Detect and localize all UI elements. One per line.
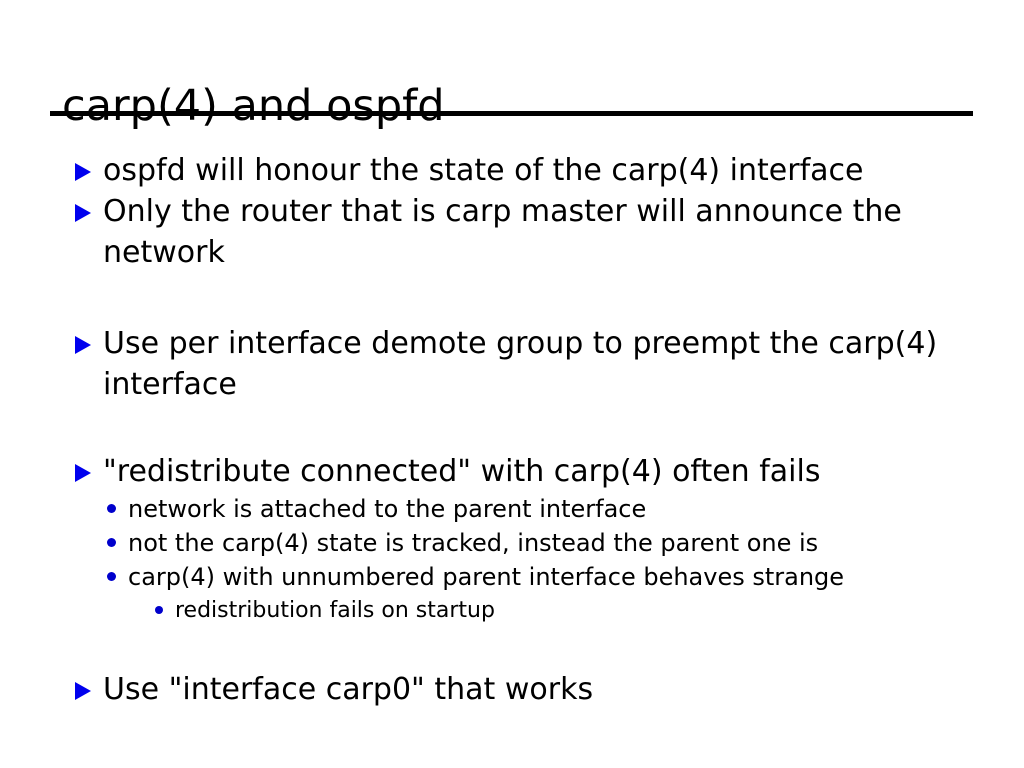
list-item: redistribution fails on startup xyxy=(0,594,1024,627)
triangle-right-bullet-icon xyxy=(75,682,91,700)
slide: carp(4) and ospfd ospfd will honour the … xyxy=(0,0,1024,768)
bullet-group-one: ospfd will honour the state of the carp(… xyxy=(0,150,1024,273)
disc-bullet-icon xyxy=(155,606,163,614)
list-item: carp(4) with unnumbered parent interface… xyxy=(0,560,1024,594)
list-item-label: not the carp(4) state is tracked, instea… xyxy=(128,529,818,557)
spacer xyxy=(0,273,1024,323)
list-item-label: carp(4) with unnumbered parent interface… xyxy=(128,563,844,591)
triangle-right-bullet-icon xyxy=(75,336,91,354)
list-item: Use "interface carp0" that works xyxy=(0,669,1024,710)
list-item-label: Use "interface carp0" that works xyxy=(103,672,593,707)
list-item-label: network is attached to the parent interf… xyxy=(128,495,646,523)
list-item-label: Use per interface demote group to preemp… xyxy=(103,326,937,402)
list-item-label: redistribution fails on startup xyxy=(175,598,495,623)
list-item-label: Only the router that is carp master will… xyxy=(103,194,902,270)
list-item: ospfd will honour the state of the carp(… xyxy=(0,150,1024,191)
bullet-group-two: Use per interface demote group to preemp… xyxy=(0,323,1024,405)
bullet-group-four: Use "interface carp0" that works xyxy=(0,669,1024,710)
list-item-label: "redistribute connected" with carp(4) of… xyxy=(103,454,820,489)
disc-bullet-icon xyxy=(107,572,116,581)
page-title: carp(4) and ospfd xyxy=(62,81,445,131)
triangle-right-bullet-icon xyxy=(75,204,91,222)
list-item: Use per interface demote group to preemp… xyxy=(0,323,1024,405)
title-divider xyxy=(50,111,973,116)
triangle-right-bullet-icon xyxy=(75,163,91,181)
list-item: network is attached to the parent interf… xyxy=(0,492,1024,526)
disc-bullet-icon xyxy=(107,538,116,547)
list-item: Only the router that is carp master will… xyxy=(0,191,1024,273)
triangle-right-bullet-icon xyxy=(75,464,91,482)
bullet-group-three: "redistribute connected" with carp(4) of… xyxy=(0,451,1024,627)
spacer xyxy=(0,627,1024,669)
disc-bullet-icon xyxy=(107,504,116,513)
list-item: "redistribute connected" with carp(4) of… xyxy=(0,451,1024,492)
slide-body: ospfd will honour the state of the carp(… xyxy=(0,150,1024,710)
list-item-label: ospfd will honour the state of the carp(… xyxy=(103,153,863,188)
list-item: not the carp(4) state is tracked, instea… xyxy=(0,526,1024,560)
spacer xyxy=(0,405,1024,451)
